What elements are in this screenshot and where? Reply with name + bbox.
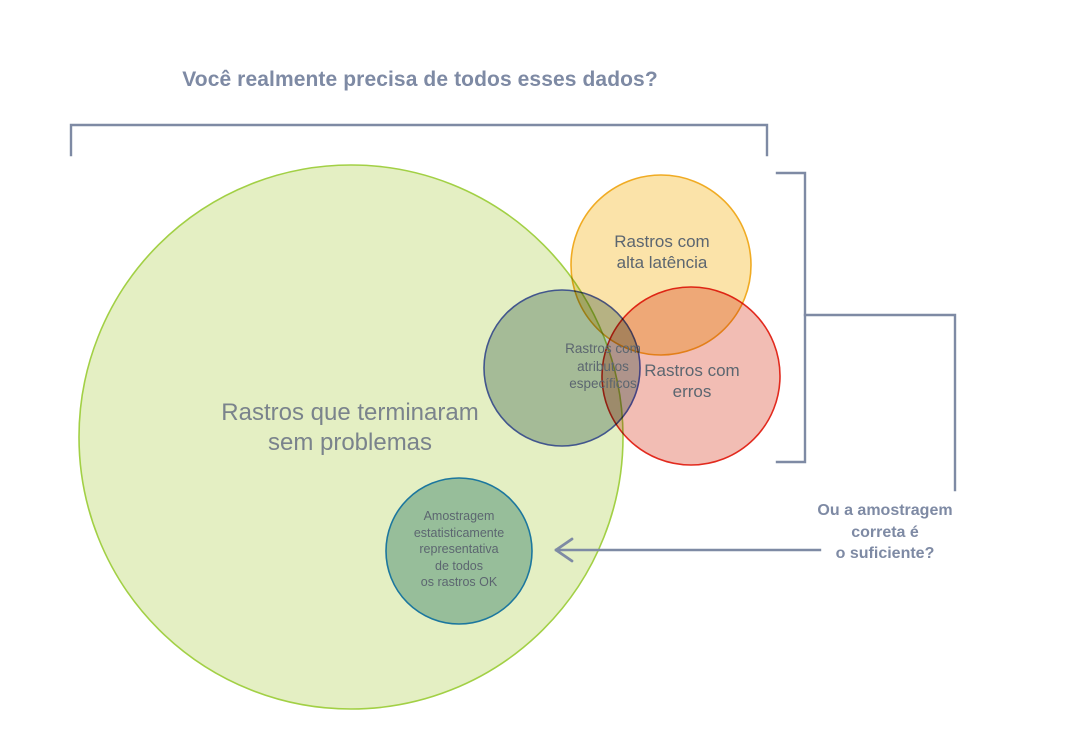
top-bracket <box>71 125 767 155</box>
bracket-stem <box>805 315 955 490</box>
venn-circle-representative-sample[interactable] <box>386 478 532 624</box>
right-bracket <box>777 173 805 462</box>
page-title: Você realmente precisa de todos esses da… <box>70 68 770 92</box>
venn-circle-specific-attributes[interactable] <box>484 290 640 446</box>
venn-circle-group <box>79 165 780 709</box>
venn-diagram-canvas <box>0 0 1077 753</box>
annotation-sampling-question: Ou a amostragem correta é o suficiente? <box>785 500 985 565</box>
